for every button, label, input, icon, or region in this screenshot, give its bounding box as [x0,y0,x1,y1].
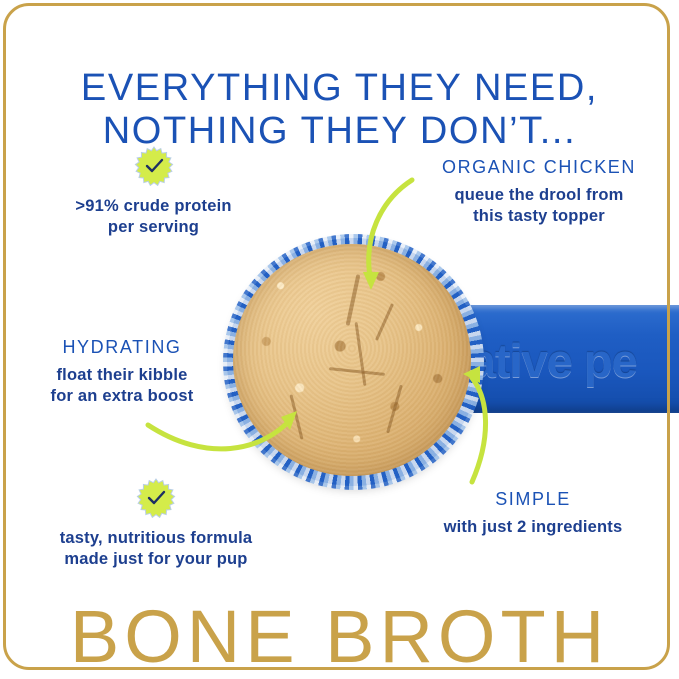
product-infographic: native pe EVERYTHING THEY NEED, NO [0,0,679,679]
callout-organic-chicken: ORGANIC CHICKEN queue the drool from thi… [413,156,665,227]
callout-organic-chicken-heading: ORGANIC CHICKEN [413,156,665,178]
callout-tasty-line-1: tasty, nutritious formula [42,528,270,549]
callout-hydrating-heading: HYDRATING [22,336,222,358]
checkmark-icon [136,478,176,518]
callout-simple: SIMPLE with just 2 ingredients [418,488,648,538]
arrow-simple [472,378,486,482]
arrow-hydrating [148,418,292,449]
callout-simple-heading: SIMPLE [418,488,648,510]
callout-tasty-line-2: made just for your pup [42,549,270,570]
callout-protein-line-2: per serving [46,217,261,238]
callout-protein: >91% crude protein per serving [46,146,261,238]
headline-line-1: EVERYTHING THEY NEED, [81,67,598,109]
callout-protein-line-1: >91% crude protein [46,196,261,217]
product-wordmark: BONE BROTH [0,600,679,674]
checkmark-icon [134,146,174,186]
callout-organic-chicken-line-2: this tasty topper [413,206,665,227]
check-badge-icon [134,146,174,186]
callout-organic-chicken-line-1: queue the drool from [413,185,665,206]
check-badge-icon [136,478,176,518]
callout-simple-line-1: with just 2 ingredients [418,517,648,538]
callout-hydrating: HYDRATING float their kibble for an extr… [22,336,222,407]
callout-hydrating-line-1: float their kibble [22,365,222,386]
callout-hydrating-line-2: for an extra boost [22,386,222,407]
arrowhead-organic-chicken [363,272,379,290]
callout-tasty: tasty, nutritious formula made just for … [42,478,270,570]
